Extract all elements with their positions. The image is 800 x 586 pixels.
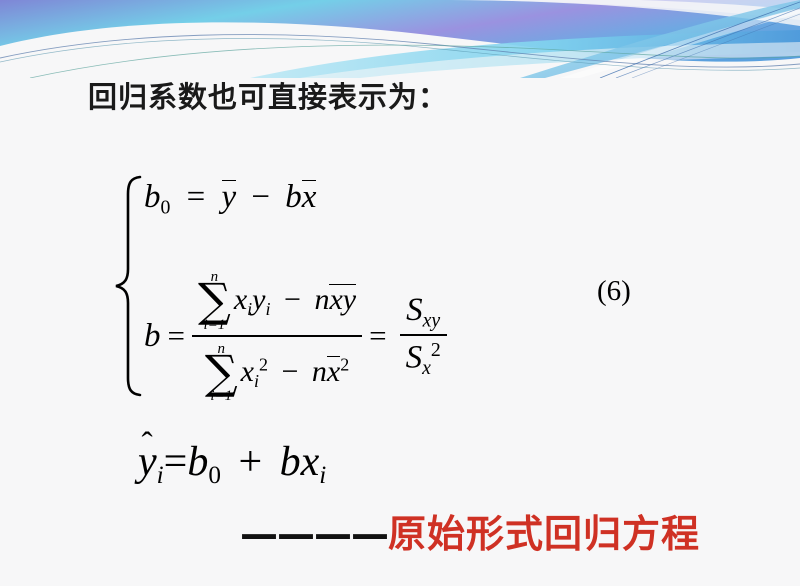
denominator-x-exponent: 2 bbox=[259, 355, 268, 375]
numerator-lower-limit: i=1 bbox=[204, 318, 226, 333]
page-title: 回归系数也可直接表示为： bbox=[88, 74, 448, 116]
denominator-xbar-exponent: 2 bbox=[340, 355, 349, 375]
denominator-x: x bbox=[241, 355, 254, 388]
result-denominator: Sx2 bbox=[400, 336, 447, 380]
denominator-n: n bbox=[312, 355, 327, 388]
eq2-numerator: n ∑ i=1 xiyi − nxy bbox=[192, 268, 362, 335]
regression-equation: ˆ y i=b0 + bxi bbox=[138, 438, 326, 490]
caption-dashes: ———— bbox=[240, 512, 388, 556]
equation-number: (6) bbox=[597, 275, 631, 308]
eq1-equals: = bbox=[179, 179, 214, 215]
numerator-summation: n ∑ i=1 bbox=[198, 270, 231, 333]
equation-line-2: b = n ∑ i=1 xiyi − nxy bbox=[144, 268, 447, 404]
eq1-lhs: b bbox=[144, 179, 161, 215]
result-S-denominator-exponent: 2 bbox=[431, 339, 441, 361]
denominator-x-bar: x bbox=[327, 354, 340, 389]
eq1-ybar: y bbox=[222, 178, 237, 216]
eq1-lhs-subscript: 0 bbox=[161, 196, 171, 218]
result-S-denominator: S bbox=[406, 340, 423, 376]
numerator-y: y bbox=[252, 283, 265, 316]
wave-banner-icon bbox=[0, 0, 800, 78]
denominator-minus: − bbox=[276, 355, 305, 388]
bottom-b-subscript: 0 bbox=[208, 462, 221, 489]
sigma-icon: ∑ bbox=[198, 282, 231, 320]
eq2-result-fraction: Sxy Sx2 bbox=[400, 292, 447, 380]
numerator-xy-bar: xy bbox=[329, 282, 356, 317]
presentation-slide: 回归系数也可直接表示为： b0 = y − bx b = n ∑ bbox=[0, 0, 800, 586]
result-S-numerator-subscript: xy bbox=[423, 309, 441, 331]
numerator-n: n bbox=[314, 283, 329, 316]
equation-system: b0 = y − bx b = n ∑ i=1 x bbox=[112, 172, 582, 400]
bottom-equals: = bbox=[164, 439, 188, 485]
result-S-denominator-subscript: x bbox=[422, 357, 431, 379]
sigma-icon: ∑ bbox=[205, 354, 238, 392]
eq2-equals-2: = bbox=[362, 318, 393, 354]
eq2-lhs: b bbox=[144, 318, 161, 355]
eq2-equals: = bbox=[161, 318, 192, 354]
denominator-lower-limit: i=1 bbox=[210, 389, 232, 404]
numerator-minus: − bbox=[278, 283, 307, 316]
bottom-x-subscript: i bbox=[319, 462, 326, 489]
eq2-denominator: n ∑ i=1 xi2 − nx2 bbox=[199, 337, 355, 405]
numerator-y-subscript: i bbox=[266, 299, 271, 319]
eq1-coefficient: b bbox=[285, 179, 302, 215]
bottom-y-subscript: i bbox=[157, 462, 164, 489]
numerator-x: x bbox=[234, 283, 247, 316]
eq2-main-fraction: n ∑ i=1 xiyi − nxy bbox=[192, 268, 362, 404]
result-S-numerator: S bbox=[406, 292, 423, 328]
eq1-xbar: x bbox=[302, 178, 317, 216]
hat-accent-icon: ˆ bbox=[142, 428, 153, 462]
caption-annotation: ————原始形式回归方程 bbox=[240, 512, 700, 558]
eq1-minus: − bbox=[244, 179, 277, 215]
left-curly-brace-icon bbox=[112, 174, 146, 398]
result-numerator: Sxy bbox=[400, 292, 446, 334]
bottom-b: b bbox=[187, 439, 208, 485]
bottom-plus: + bbox=[231, 439, 269, 485]
bottom-coefficient: b bbox=[280, 439, 301, 485]
denominator-summation: n ∑ i=1 bbox=[205, 342, 238, 405]
equation-line-1: b0 = y − bx bbox=[144, 178, 316, 219]
caption-text: 原始形式回归方程 bbox=[388, 512, 700, 556]
bottom-x: x bbox=[301, 439, 320, 485]
